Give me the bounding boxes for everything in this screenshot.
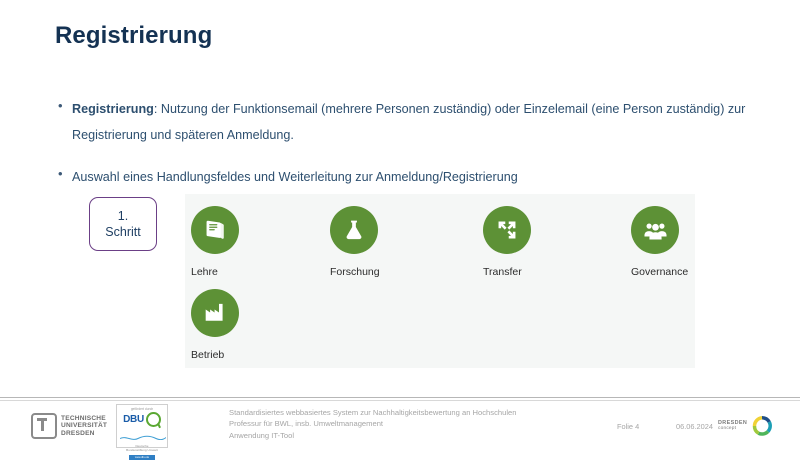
arrows-converge-icon <box>483 206 531 254</box>
footer-info-line-2: Professur für BWL, insb. Umweltmanagemen… <box>229 418 516 429</box>
page-title: Registrierung <box>55 22 212 50</box>
bullet-text: Auswahl eines Handlungsfeldes und Weiter… <box>72 164 758 190</box>
action-field-transfer[interactable]: Transfer <box>477 206 597 278</box>
slide-number: Folie 4 <box>617 422 639 431</box>
footer-divider-secondary <box>0 400 800 401</box>
dbu-leaf-icon <box>146 412 161 427</box>
slide-date: 06.06.2024 <box>676 422 713 431</box>
bullet-body: Auswahl eines Handlungsfeldes und Weiter… <box>72 170 518 184</box>
tud-line-3: DRESDEN <box>61 430 107 437</box>
action-field-label: Lehre <box>191 266 305 278</box>
action-field-forschung[interactable]: Forschung <box>324 206 444 278</box>
dresden-concept-wordmark: DRESDEN concept <box>718 420 747 433</box>
action-field-governance[interactable]: Governance <box>625 206 745 278</box>
dbu-mark: DBU <box>120 412 164 427</box>
action-field-lehre[interactable]: Lehre <box>185 206 305 278</box>
footer-divider <box>0 397 800 398</box>
action-field-label: Transfer <box>483 266 597 278</box>
footer-info: Standardisiertes webbasiertes System zur… <box>229 407 516 441</box>
tu-dresden-wordmark: TECHNISCHE UNIVERSITÄT DRESDEN <box>61 415 107 437</box>
dresden-concept-logo: DRESDEN concept <box>718 414 774 438</box>
tu-dresden-logo: TECHNISCHE UNIVERSITÄT DRESDEN <box>31 413 107 439</box>
flask-icon <box>330 206 378 254</box>
dbu-wave-icon <box>120 435 166 440</box>
list-item: • Registrierung: Nutzung der Funktionsem… <box>58 96 758 148</box>
bullet-body: : Nutzung der Funktionsemail (mehrere Pe… <box>72 102 745 142</box>
footer-info-line-1: Standardisiertes webbasiertes System zur… <box>229 407 516 418</box>
step-badge: 1. Schritt <box>89 197 157 251</box>
tu-dresden-mark-icon <box>31 413 57 439</box>
action-field-betrieb[interactable]: Betrieb <box>185 289 305 361</box>
people-group-icon <box>631 206 679 254</box>
action-field-label: Forschung <box>330 266 444 278</box>
bullet-marker-icon: • <box>58 96 72 116</box>
step-badge-label: Schritt <box>105 224 140 240</box>
dresden-concept-ring-icon <box>750 414 774 438</box>
bullet-lead: Registrierung <box>72 102 154 116</box>
dbu-subtitle-2: Bundesstiftung Umwelt <box>120 449 164 453</box>
action-field-label: Betrieb <box>191 349 305 361</box>
action-field-label: Governance <box>631 266 745 278</box>
action-fields-panel: Lehre Forschung Transfer <box>185 194 695 368</box>
dbu-wordmark: DBU <box>123 414 144 425</box>
footer-info-line-3: Anwendung IT-Tool <box>229 430 516 441</box>
bullet-marker-icon: • <box>58 164 72 184</box>
book-icon <box>191 206 239 254</box>
dbu-url-bar: www.dbu.de <box>129 455 155 460</box>
bullet-text: Registrierung: Nutzung der Funktionsemai… <box>72 96 758 148</box>
dc-line-2: concept <box>718 426 747 433</box>
dbu-funding-note: gefördert durch <box>120 407 164 411</box>
list-item: • Auswahl eines Handlungsfeldes und Weit… <box>58 164 758 190</box>
dbu-logo: gefördert durch DBU Deutsche Bundesstift… <box>116 404 168 448</box>
factory-icon <box>191 289 239 337</box>
step-badge-number: 1. <box>118 208 128 224</box>
tud-line-2: UNIVERSITÄT <box>61 422 107 429</box>
bullet-list: • Registrierung: Nutzung der Funktionsem… <box>58 96 758 206</box>
